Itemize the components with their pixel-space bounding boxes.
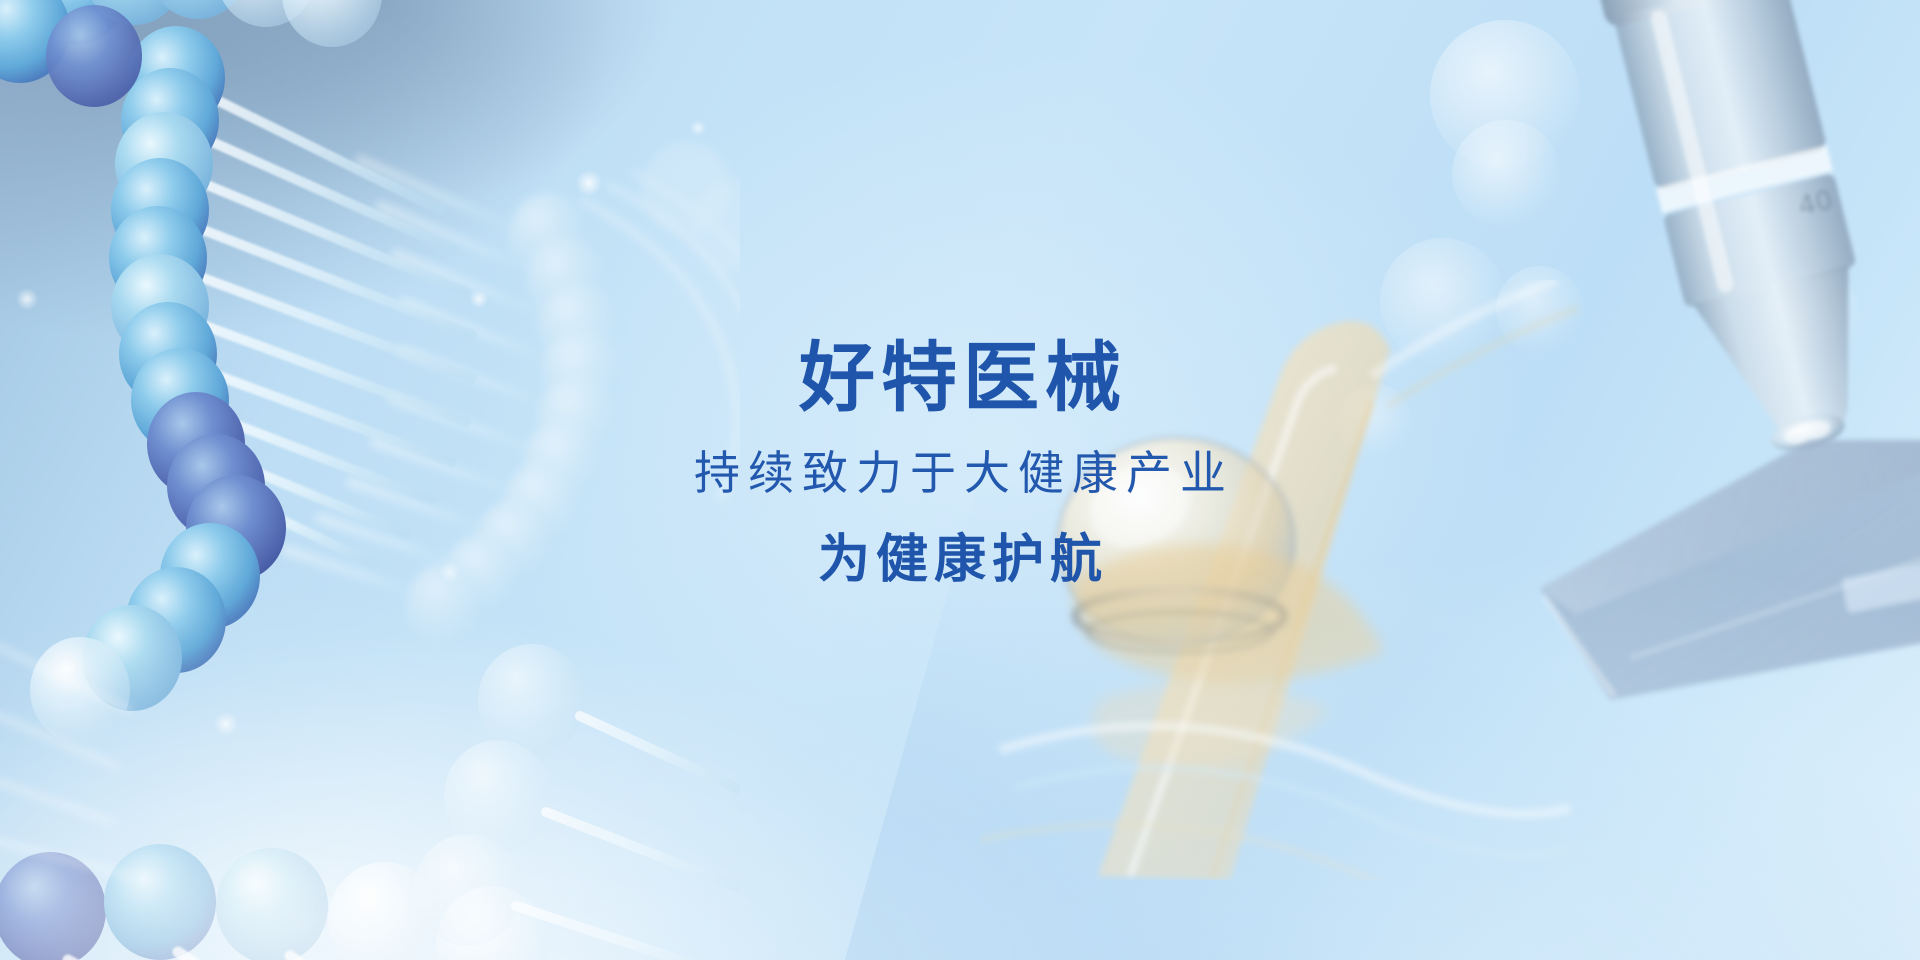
bokeh-spot: [470, 290, 488, 308]
bokeh-spot: [16, 288, 38, 310]
brand-title: 好特医械: [0, 340, 1920, 416]
bokeh-spot: [214, 712, 238, 736]
scope-magnification-label: 40: [1795, 184, 1836, 222]
bokeh-spot: [1430, 20, 1580, 170]
hero-banner: 40: [0, 0, 1920, 960]
bokeh-spot: [576, 170, 602, 196]
bokeh-spot: [690, 120, 706, 136]
tagline-primary: 持续致力于大健康产业: [0, 450, 1920, 496]
headline-block: 好特医械 持续致力于大健康产业 为健康护航: [0, 340, 1920, 586]
tagline-secondary: 为健康护航: [0, 534, 1920, 586]
bokeh-spot: [1452, 120, 1560, 228]
